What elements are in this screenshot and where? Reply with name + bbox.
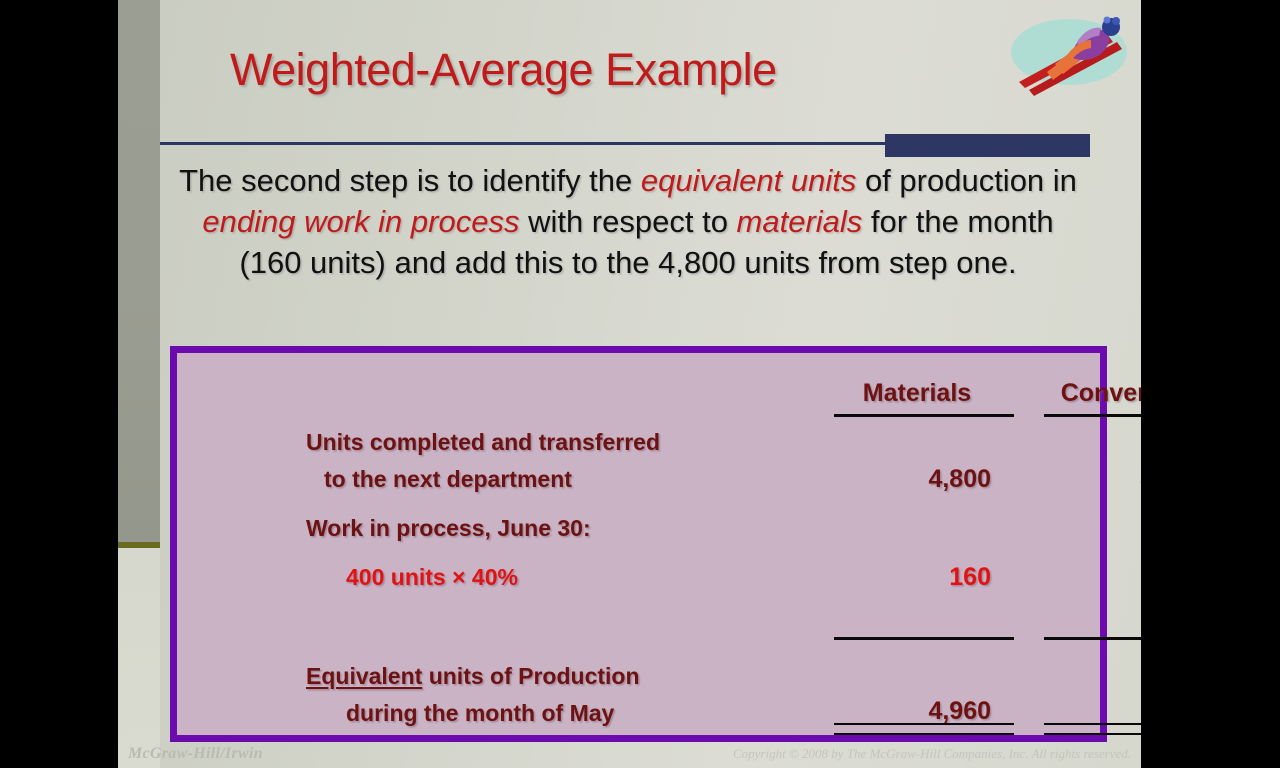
- row-label-work-in-process: Work in process, June 30:: [306, 515, 591, 542]
- row-label-units-completed-line2: to the next department: [324, 466, 572, 493]
- equivalent-word: Equivalent: [306, 663, 422, 689]
- header-rule-materials: [834, 414, 1014, 417]
- cell-units-completed-conversion: 4,800: [1037, 465, 1141, 494]
- body-seg-2: of production in: [856, 163, 1077, 198]
- total-double-rule-conversion: [1044, 723, 1141, 735]
- cell-total-materials: 4,960: [827, 697, 991, 726]
- subtotal-rule-conversion: [1044, 637, 1141, 640]
- body-seg-3: with respect to: [519, 204, 736, 239]
- title-underline-rule: [160, 142, 886, 145]
- body-paragraph: The second step is to identify the equiv…: [178, 160, 1078, 283]
- title-accent-block: [885, 134, 1090, 157]
- equivalent-rest: units of Production: [422, 663, 639, 689]
- left-lower-strip: [118, 548, 160, 768]
- body-emph-ending-wip: ending work in process: [202, 204, 519, 239]
- subtotal-rule-materials: [834, 637, 1014, 640]
- column-header-materials: Materials: [827, 379, 1007, 408]
- row-label-equivalent-units-line2: during the month of May: [346, 700, 614, 727]
- slide: Weighted-Average Example: [118, 0, 1141, 768]
- cell-units-completed-materials: 4,800: [827, 465, 991, 494]
- ski-jumper-logo: [1003, 2, 1133, 102]
- equivalent-units-table: Materials Conversion Units completed and…: [170, 346, 1107, 742]
- row-label-400-units-40-percent: 400 units × 40%: [346, 564, 518, 591]
- footer-copyright: Copyright © 2008 by The McGraw-Hill Comp…: [733, 746, 1131, 762]
- column-header-conversion: Conversion: [1037, 379, 1141, 408]
- body-emph-equivalent-units: equivalent units: [641, 163, 856, 198]
- total-double-rule-materials: [834, 723, 1014, 735]
- slide-canvas: Weighted-Average Example: [0, 0, 1280, 768]
- row-label-equivalent-units-line1: Equivalent units of Production: [306, 663, 640, 690]
- row-label-units-completed-line1: Units completed and transferred: [306, 429, 660, 456]
- left-gray-strip: [118, 0, 160, 546]
- page-title: Weighted-Average Example: [230, 44, 1090, 96]
- footer-publisher-logo: McGraw-Hill/Irwin: [128, 745, 263, 763]
- header-rule-conversion: [1044, 414, 1141, 417]
- cell-wip-materials: 160: [827, 563, 991, 592]
- body-emph-materials: materials: [737, 204, 863, 239]
- body-seg-1: The second step is to identify the: [179, 163, 641, 198]
